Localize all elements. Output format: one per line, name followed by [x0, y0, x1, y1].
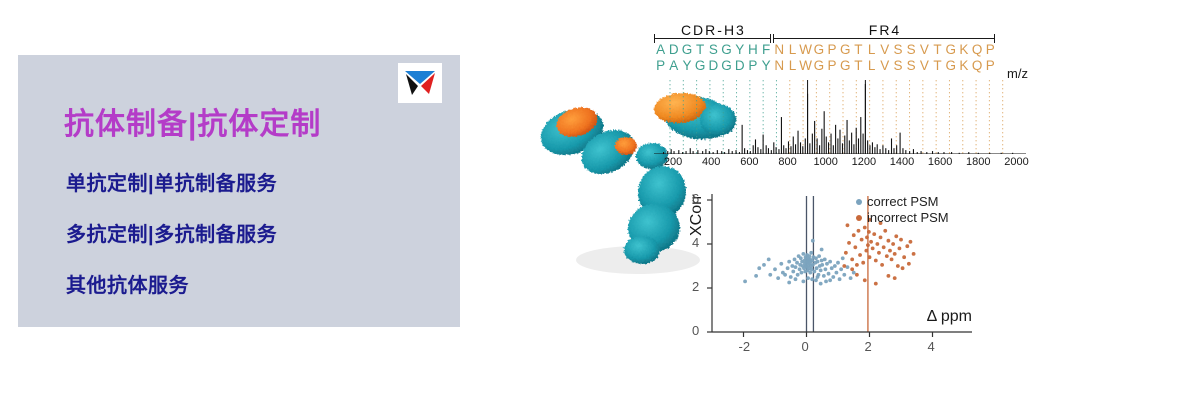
region-bracket [773, 38, 995, 39]
scatter-point-correct [823, 258, 827, 262]
scatter-point-correct [833, 264, 837, 268]
residue: V [918, 58, 931, 73]
scatter-point-incorrect [864, 249, 868, 253]
scatter-point-correct [828, 260, 832, 264]
x-tick-label: 0 [802, 339, 809, 354]
scatter-point-incorrect [850, 267, 854, 271]
region-label: FR4 [865, 22, 905, 38]
scatter-point-incorrect [857, 229, 861, 233]
scatter-point-correct [801, 252, 805, 256]
residue: G [944, 58, 957, 73]
residue: P [746, 58, 759, 73]
scatter-point-incorrect [879, 236, 883, 240]
scatter-point-correct [819, 269, 823, 273]
scatter-point-correct [798, 267, 802, 271]
scatter-point-correct [814, 256, 818, 260]
scatter-point-correct [810, 259, 814, 263]
scatter-point-correct [794, 277, 798, 281]
scatter-point-correct [819, 282, 823, 286]
residue: D [667, 42, 680, 57]
residue: G [720, 42, 733, 57]
scatter-point-incorrect [852, 233, 856, 237]
scatter-point-incorrect [902, 255, 906, 259]
scatter-point-incorrect [846, 223, 850, 227]
scatter-point-correct [811, 239, 815, 243]
mz-tick-label: 1400 [890, 156, 914, 168]
residue: V [878, 58, 891, 73]
scatter-point-incorrect [855, 273, 859, 277]
residue: T [931, 42, 944, 57]
residue: G [839, 58, 852, 73]
residue: V [918, 42, 931, 57]
scatter-point-correct [767, 258, 771, 262]
scatter-point-correct [799, 256, 803, 260]
mz-tick-label: 2000 [1004, 156, 1028, 168]
scatter-point-correct [812, 270, 816, 274]
spectrum-peaks [654, 80, 1026, 154]
scatter-point-incorrect [874, 259, 878, 263]
scatter-point-incorrect [890, 258, 894, 262]
residue: V [878, 42, 891, 57]
mz-tick-label: 400 [702, 156, 720, 168]
residue: P [984, 42, 997, 57]
scatter-point-incorrect [905, 244, 909, 248]
scatter-point-correct [816, 260, 820, 264]
scatter-point-correct [828, 278, 832, 282]
scatter-point-correct [820, 263, 824, 267]
scatter-point-incorrect [866, 243, 870, 247]
mz-tick-label: 800 [778, 156, 796, 168]
scatter-point-incorrect [896, 264, 900, 268]
scatter-point-correct [796, 273, 800, 277]
scatter-point-correct [762, 263, 766, 267]
scatter-point-incorrect [894, 234, 898, 238]
service-link-other[interactable]: 其他抗体服务 [66, 269, 189, 298]
scatter-point-correct [824, 267, 828, 271]
residue: D [733, 58, 746, 73]
scatter-point-correct [776, 276, 780, 280]
residue: G [812, 42, 825, 57]
mz-axis-label: m/z [1007, 66, 1028, 81]
residue: L [865, 58, 878, 73]
scatter-point-incorrect [885, 254, 889, 258]
service-link-polyclonal[interactable]: 多抗定制|多抗制备服务 [66, 218, 277, 247]
residue: Q [971, 58, 984, 73]
residue: T [694, 42, 707, 57]
legend-dot-incorrect-icon [856, 215, 862, 221]
scatter-point-incorrect [907, 262, 911, 266]
scatter-point-correct [773, 267, 777, 271]
residue: Y [733, 42, 746, 57]
scatter-point-incorrect [901, 266, 905, 270]
region-bracket [654, 38, 771, 39]
scatter-point-correct [835, 271, 839, 275]
scatter-point-correct [801, 280, 805, 284]
scatter-point-incorrect [860, 238, 864, 242]
scatter-point-correct [787, 281, 791, 285]
scatter-point-incorrect [899, 238, 903, 242]
scatter-point-correct [786, 266, 790, 270]
scatter-point-incorrect [888, 249, 892, 253]
scatter-point-incorrect [909, 240, 913, 244]
mz-tick-label: 1800 [966, 156, 990, 168]
scatter-point-incorrect [863, 278, 867, 282]
scatter-point-incorrect [861, 261, 865, 265]
scatter-point-incorrect [850, 258, 854, 262]
scatter-point-correct [807, 254, 811, 258]
scatter-point-incorrect [912, 252, 916, 256]
legend-label-incorrect: incorrect PSM [867, 210, 949, 225]
scatter-point-incorrect [875, 242, 879, 246]
scatter-point-incorrect [898, 247, 902, 251]
residue: W [799, 58, 812, 73]
mz-tick-label: 200 [664, 156, 682, 168]
residue: K [957, 58, 970, 73]
scatter-point-incorrect [893, 252, 897, 256]
scatter-point-correct [768, 273, 772, 277]
mz-tick-label: 1200 [852, 156, 876, 168]
residue: L [786, 42, 799, 57]
residue: Y [680, 58, 693, 73]
scatter-point-correct [795, 261, 799, 265]
residue: S [891, 58, 904, 73]
scatter-point-correct [817, 254, 821, 258]
mass-spectrum-plot: 200400600800100012001400160018002000 m/z [654, 80, 1026, 172]
residue: L [786, 58, 799, 73]
scatter-point-correct [787, 260, 791, 264]
residue: K [957, 42, 970, 57]
scatter-point-correct [820, 248, 824, 252]
scatter-point-correct [830, 266, 834, 270]
residue: N [773, 42, 786, 57]
legend-item-correct: correct PSM [856, 194, 949, 209]
scatter-point-incorrect [883, 229, 887, 233]
scatter-point-incorrect [882, 245, 886, 249]
scatter-point-correct [793, 258, 797, 262]
scatter-point-correct [779, 262, 783, 266]
scatter-point-incorrect [887, 274, 891, 278]
scatter-point-incorrect [891, 242, 895, 246]
scatter-point-correct [849, 276, 853, 280]
mz-tick-label: 1600 [928, 156, 952, 168]
y-tick-label: 2 [692, 279, 699, 294]
scatter-point-correct [836, 261, 840, 265]
scatter-point-correct [757, 266, 761, 270]
page-title: 抗体制备|抗体定制 [64, 99, 321, 143]
scatter-point-incorrect [877, 251, 881, 255]
scatter-point-incorrect [872, 232, 876, 236]
scatter-point-correct [791, 270, 795, 274]
residue: F [760, 42, 773, 57]
residue: T [852, 58, 865, 73]
scatter-point-incorrect [863, 226, 867, 230]
scatter-point-incorrect [847, 241, 851, 245]
scatter-point-incorrect [869, 240, 873, 244]
residue: G [694, 58, 707, 73]
residue: N [773, 58, 786, 73]
scatter-point-incorrect [867, 230, 871, 234]
legend-item-incorrect: incorrect PSM [856, 210, 949, 225]
residue: G [812, 58, 825, 73]
scatter-point-incorrect [893, 276, 897, 280]
scatter-point-correct [754, 274, 758, 278]
residue: S [905, 42, 918, 57]
scatter-point-incorrect [887, 239, 891, 243]
residue: T [931, 58, 944, 73]
scatter-point-incorrect [855, 263, 859, 267]
y-tick-label: 0 [692, 323, 699, 338]
scatter-point-correct [827, 272, 831, 276]
y-tick-label: 4 [692, 235, 699, 250]
scatter-point-incorrect [858, 253, 862, 257]
residue: Y [760, 58, 773, 73]
scatter-point-correct [839, 267, 843, 271]
residue: G [944, 42, 957, 57]
region-label: CDR-H3 [677, 22, 750, 38]
scatter-point-correct [743, 280, 747, 284]
residue: G [839, 42, 852, 57]
x-axis-label: Δ ppm [927, 308, 972, 326]
residue: S [905, 58, 918, 73]
sequence-alignment: CDR-H3FR4 ADGTSGYHFNLWGPGTLVSSVTGKQP PAY… [654, 22, 1026, 82]
scatter-point-correct [814, 278, 818, 282]
scatter-point-incorrect [853, 245, 857, 249]
xcorr-scatter-plot: XCorr Δ ppm correct PSM incorrect PSM 02… [670, 190, 980, 370]
service-link-monoclonal[interactable]: 单抗定制|单抗制备服务 [66, 167, 277, 196]
legend-dot-correct-icon [856, 199, 862, 205]
scatter-point-incorrect [880, 263, 884, 267]
sequence-row-bottom: PAYGDGDPYNLWGPGTLVSSVTGKQP [654, 58, 997, 73]
scatter-point-incorrect [865, 236, 869, 240]
residue: T [852, 42, 865, 57]
x-tick-label: 2 [865, 339, 872, 354]
scatter-point-correct [831, 275, 835, 279]
residue: S [891, 42, 904, 57]
residue: Q [971, 42, 984, 57]
scatter-point-incorrect [868, 255, 872, 259]
scatter-point-correct [800, 271, 804, 275]
residue: A [667, 58, 680, 73]
residue: H [746, 42, 759, 57]
mz-tick-label: 600 [740, 156, 758, 168]
x-tick-label: 4 [928, 339, 935, 354]
residue: W [799, 42, 812, 57]
scatter-point-incorrect [874, 282, 878, 286]
scatter-point-correct [794, 265, 798, 269]
mz-tick-label: 1000 [813, 156, 837, 168]
residue: P [825, 58, 838, 73]
scatter-point-correct [825, 262, 829, 266]
scatter-point-correct [789, 275, 793, 279]
scatter-point-incorrect [844, 251, 848, 255]
scatter-point-incorrect [871, 247, 875, 251]
scatter-point-correct [783, 273, 787, 277]
residue: S [707, 42, 720, 57]
legend-label-correct: correct PSM [867, 194, 939, 209]
scatter-point-correct [822, 274, 826, 278]
residue: D [707, 58, 720, 73]
scatter-point-correct [810, 277, 814, 281]
scatter-point-correct [806, 276, 810, 280]
scatter-point-correct [841, 256, 845, 260]
scatter-point-correct [852, 271, 856, 275]
residue: L [865, 42, 878, 57]
residue: P [984, 58, 997, 73]
scatter-legend: correct PSM incorrect PSM [856, 194, 949, 226]
scatter-point-correct [838, 277, 842, 281]
scatter-point-correct [808, 271, 812, 275]
scatter-point-incorrect [842, 264, 846, 268]
scatter-point-correct [809, 251, 813, 255]
scatter-point-correct [816, 275, 820, 279]
residue: G [720, 58, 733, 73]
sequence-row-top: ADGTSGYHFNLWGPGTLVSSVTGKQP [654, 42, 997, 57]
mz-axis: 200400600800100012001400160018002000 [654, 154, 1026, 172]
scatter-point-correct [824, 280, 828, 284]
scatter-point-correct [815, 266, 819, 270]
residue: P [654, 58, 667, 73]
residue: A [654, 42, 667, 57]
x-tick-label: -2 [739, 339, 751, 354]
residue: P [825, 42, 838, 57]
residue: G [680, 42, 693, 57]
company-chevron-logo [398, 63, 442, 103]
scatter-point-correct [842, 273, 846, 277]
y-tick-label: 6 [692, 191, 699, 206]
promo-panel: 抗体制备|抗体定制 单抗定制|单抗制备服务 多抗定制|多抗制备服务 其他抗体服务 [18, 55, 460, 327]
scientific-figure: CDR-H3FR4 ADGTSGYHFNLWGPGTLVSSVTGKQP PAY… [520, 0, 1190, 400]
